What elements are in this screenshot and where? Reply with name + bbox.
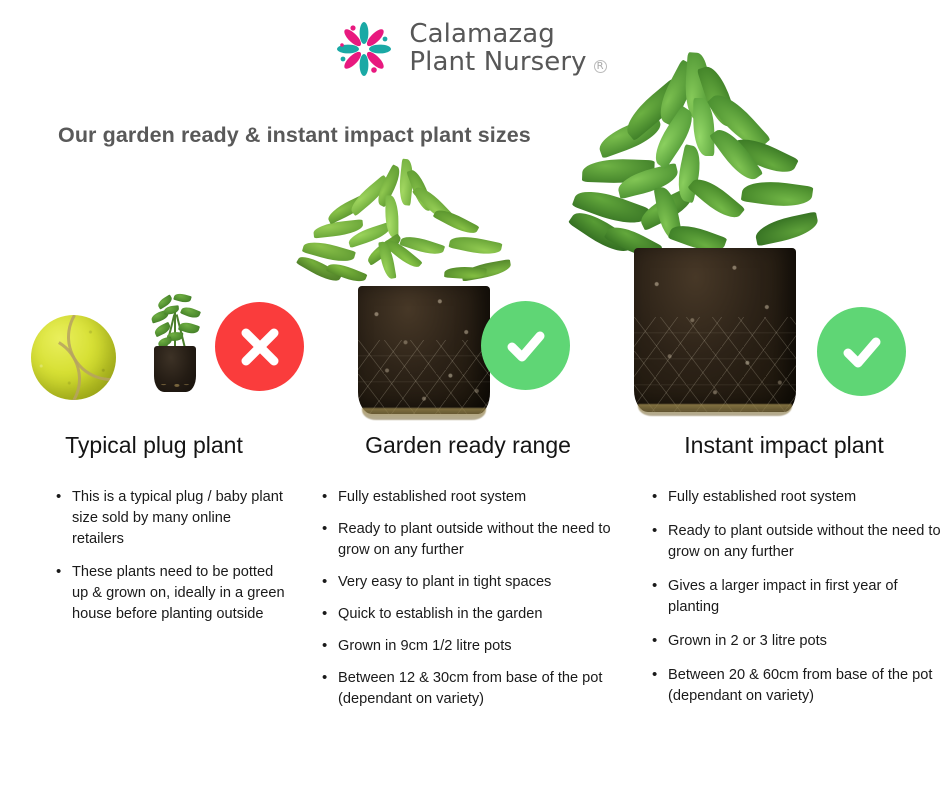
column-typical-plug-plant: Typical plug plant This is a typical plu… xyxy=(0,432,308,721)
list-item: Gives a larger impact in first year of p… xyxy=(652,576,940,618)
green-check-icon xyxy=(481,301,570,390)
list-item: Between 20 & 60cm from base of the pot (… xyxy=(652,665,940,707)
list-item: Fully established root system xyxy=(652,487,940,508)
column-title: Instant impact plant xyxy=(628,432,940,459)
list-item: These plants need to be potted up & grow… xyxy=(56,562,286,625)
list-item: Quick to establish in the garden xyxy=(322,604,622,625)
product-imagery-stage xyxy=(0,0,940,425)
list-item: Ready to plant outside without the need … xyxy=(652,521,940,563)
plug-plant-image xyxy=(148,292,204,392)
tennis-ball-scale-reference xyxy=(31,315,116,400)
column-title: Garden ready range xyxy=(308,432,628,459)
feature-list: Fully established root system Ready to p… xyxy=(652,487,940,707)
list-item: Grown in 9cm 1/2 litre pots xyxy=(322,636,622,657)
column-instant-impact-plant: Instant impact plant Fully established r… xyxy=(628,432,940,721)
feature-list: Fully established root system Ready to p… xyxy=(322,487,622,710)
list-item: Grown in 2 or 3 litre pots xyxy=(652,631,940,652)
green-check-icon xyxy=(817,307,906,396)
feature-list: This is a typical plug / baby plant size… xyxy=(56,487,286,625)
list-item: Fully established root system xyxy=(322,487,622,508)
list-item: Very easy to plant in tight spaces xyxy=(322,572,622,593)
list-item: This is a typical plug / baby plant size… xyxy=(56,487,286,550)
red-cross-icon xyxy=(215,302,304,391)
column-title: Typical plug plant xyxy=(0,432,308,459)
column-garden-ready-range: Garden ready range Fully established roo… xyxy=(308,432,628,721)
list-item: Ready to plant outside without the need … xyxy=(322,519,622,561)
list-item: Between 12 & 30cm from base of the pot (… xyxy=(322,668,622,710)
comparison-columns: Typical plug plant This is a typical plu… xyxy=(0,432,940,721)
